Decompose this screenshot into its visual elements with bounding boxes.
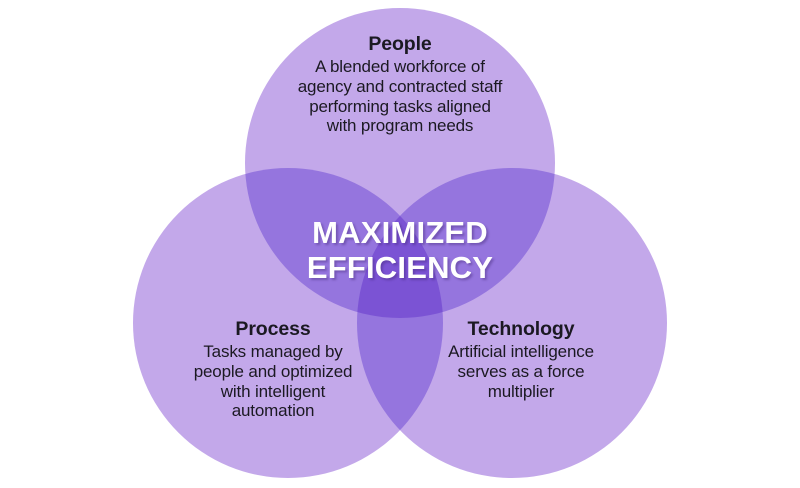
- venn-diagram: People A blended workforce of agency and…: [0, 0, 800, 488]
- venn-circles-graphic: [0, 0, 800, 488]
